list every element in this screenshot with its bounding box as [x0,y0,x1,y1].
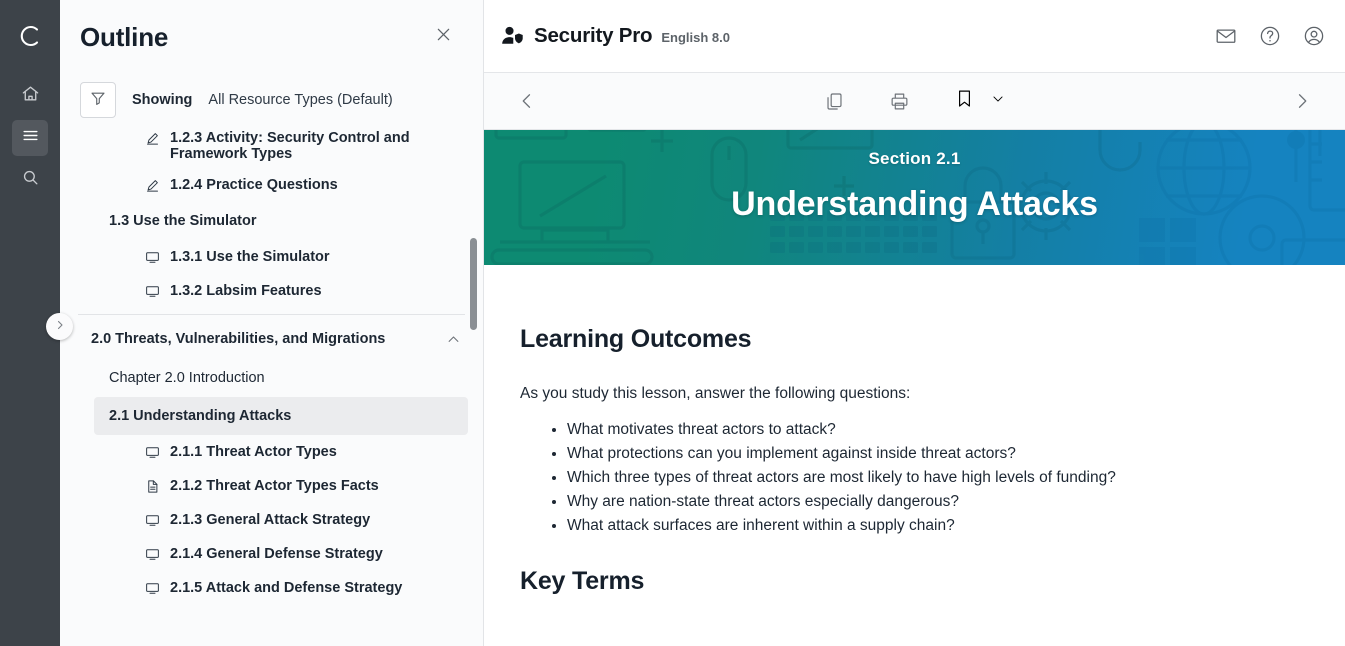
brand-name: Security Pro [534,24,652,48]
chevron-up-icon[interactable] [446,332,461,347]
list-item: What protections can you implement again… [567,442,1305,466]
list-item[interactable]: 2.1.1 Threat Actor Types [60,435,483,469]
learning-outcomes-list: What motivates threat actors to attack? … [520,418,1305,538]
divider [78,314,465,315]
outline-scrollbar-thumb[interactable] [470,238,477,330]
outline-section-2-1-selected[interactable]: 2.1 Understanding Attacks [94,397,468,435]
list-item-label: 1.3.1 Use the Simulator [162,249,330,265]
logo-c-icon[interactable] [10,16,50,56]
outline-chapter-2-0[interactable]: 2.0 Threats, Vulnerabilities, and Migrat… [60,319,483,359]
home-icon [21,84,40,108]
chevron-right-icon [54,318,66,336]
top-bar-actions [1215,25,1325,47]
monitor-icon [142,580,162,596]
rail-item-search[interactable] [12,162,48,198]
list-item-label: 1.2.4 Practice Questions [162,177,338,193]
bookmark-group [954,88,1005,114]
brand-version: English 8.0 [661,30,730,45]
brand: Security Pro English 8.0 [501,24,730,48]
list-item-label: 2.1.2 Threat Actor Types Facts [162,478,379,494]
list-item[interactable]: 2.1.2 Threat Actor Types Facts [60,469,483,503]
menu-icon [21,126,40,150]
outline-chapter-intro[interactable]: Chapter 2.0 Introduction [60,359,483,397]
prev-page-button[interactable] [514,88,540,114]
next-page-button[interactable] [1289,88,1315,114]
list-item: What attack surfaces are inherent within… [567,514,1305,538]
user-shield-icon [501,25,525,47]
close-outline-button[interactable] [429,23,457,51]
bookmark-icon[interactable] [954,88,975,114]
key-terms-heading: Key Terms [520,567,1305,596]
filter-showing-label: Showing [132,92,192,108]
rail-item-home[interactable] [12,78,48,114]
list-item[interactable]: 1.2.3 Activity: Security Control and Fra… [60,126,483,168]
document-icon [142,478,162,494]
lesson-toolbar [484,73,1345,130]
monitor-icon [142,546,162,562]
chevron-down-icon[interactable] [991,92,1005,111]
left-icon-rail [0,0,60,646]
help-icon[interactable] [1259,25,1281,47]
monitor-icon [142,512,162,528]
outline-filter-row: Showing All Resource Types (Default) [60,74,483,126]
banner-section-label: Section 2.1 [869,149,961,169]
outline-section-1-3[interactable]: 1.3 Use the Simulator [60,202,483,240]
banner-text: Section 2.1 Understanding Attacks [484,130,1345,265]
banner-title: Understanding Attacks [731,185,1098,224]
list-item: Why are nation-state threat actors espec… [567,490,1305,514]
main-pane: Security Pro English 8.0 [484,0,1345,646]
list-item[interactable]: 1.3.2 Labsim Features [60,274,483,308]
rail-expand-handle[interactable] [46,313,73,340]
top-bar: Security Pro English 8.0 [484,0,1345,73]
list-item-label: 2.1.1 Threat Actor Types [162,444,337,460]
list-item: Which three types of threat actors are m… [567,466,1305,490]
monitor-icon [142,283,162,299]
rail-item-outline[interactable] [12,120,48,156]
lesson-lead-text: As you study this lesson, answer the fol… [520,385,1305,403]
list-item[interactable]: 2.1.3 General Attack Strategy [60,503,483,537]
filter-icon [89,89,107,112]
close-icon [434,25,453,49]
search-icon [21,168,40,192]
list-item-label: 2.1.5 Attack and Defense Strategy [162,580,402,596]
list-item[interactable]: 2.1.5 Attack and Defense Strategy [60,571,483,605]
chapter-label: 2.0 Threats, Vulnerabilities, and Migrat… [91,331,385,347]
list-item-label: 1.3.2 Labsim Features [162,283,322,299]
list-item[interactable]: 1.2.4 Practice Questions [60,168,483,202]
lesson-content: Section 2.1 Understanding Attacks Learni… [484,130,1345,646]
list-item[interactable]: 2.1.4 General Defense Strategy [60,537,483,571]
monitor-icon [142,249,162,265]
monitor-icon [142,444,162,460]
outline-header: Outline [60,0,483,74]
activity-icon [142,130,162,146]
outline-scroll-area: 1.2.3 Activity: Security Control and Fra… [60,126,483,646]
filter-value[interactable]: All Resource Types (Default) [208,92,392,108]
print-icon[interactable] [889,91,910,112]
outline-list: 1.2.3 Activity: Security Control and Fra… [60,126,483,605]
list-item-label: 1.2.3 Activity: Security Control and Fra… [162,130,452,162]
mail-icon[interactable] [1215,25,1237,47]
account-icon[interactable] [1303,25,1325,47]
copy-icon[interactable] [824,91,845,112]
lesson-body: Learning Outcomes As you study this less… [484,265,1345,596]
outline-panel: Outline Showing All Resource Types (Defa… [60,0,484,646]
application-window: Outline Showing All Resource Types (Defa… [0,0,1345,646]
lesson-banner: Section 2.1 Understanding Attacks [484,130,1345,265]
list-item: What motivates threat actors to attack? [567,418,1305,442]
toolbar-center-actions [484,88,1345,114]
list-item-label: 2.1.3 General Attack Strategy [162,512,370,528]
activity-icon [142,177,162,193]
list-item-label: 2.1.4 General Defense Strategy [162,546,383,562]
outline-title: Outline [80,22,429,53]
learning-outcomes-heading: Learning Outcomes [520,325,1305,354]
outline-scrollbar-track[interactable] [470,126,477,646]
filter-button[interactable] [80,82,116,118]
list-item[interactable]: 1.3.1 Use the Simulator [60,240,483,274]
